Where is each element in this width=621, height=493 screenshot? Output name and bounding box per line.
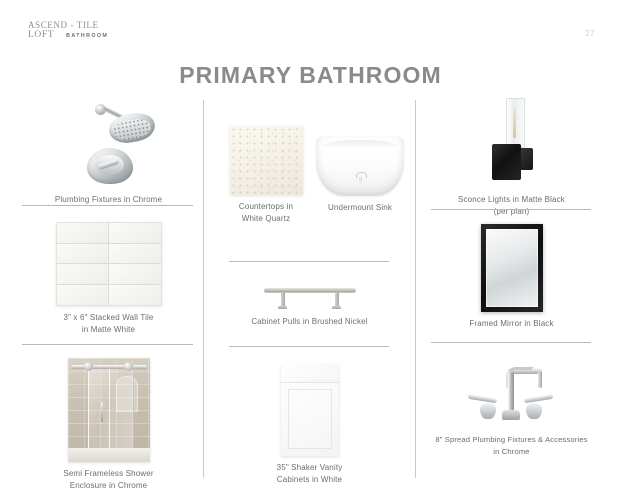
shower-head-and-valve-trim-icon bbox=[59, 96, 159, 188]
stacked-wall-tile-swatch-icon bbox=[56, 222, 162, 306]
section-rule bbox=[431, 209, 591, 210]
spec-caption: 8" Spread Plumbing Fixtures & Accessorie… bbox=[435, 434, 587, 458]
quartz-countertop-swatch-icon bbox=[230, 126, 303, 195]
shower-enclosure-icon bbox=[68, 358, 150, 462]
widespread-lavatory-faucet-icon bbox=[460, 354, 564, 428]
column-right: Sconce Lights in Matte Black (per plan) … bbox=[416, 96, 607, 480]
spec-item-widespread-faucet[interactable]: 8" Spread Plumbing Fixtures & Accessorie… bbox=[416, 354, 607, 458]
spec-item-quartz-countertop[interactable]: Countertops in White Quartz bbox=[218, 126, 314, 226]
spec-item-stacked-wall-tile[interactable]: 3" x 6" Stacked Wall Tile in Matte White bbox=[14, 222, 203, 337]
spec-caption: Sconce Lights in Matte Black (per plan) bbox=[458, 194, 565, 219]
column-left: Plumbing Fixtures in Chrome 3" x 6" Stac… bbox=[14, 96, 203, 480]
brand-line-2: LOFT bbox=[28, 30, 54, 41]
spec-item-shower-enclosure[interactable]: Semi Frameless Shower Enclosure in Chrom… bbox=[14, 358, 203, 493]
undermount-sink-icon bbox=[316, 136, 404, 196]
spec-caption: Undermount Sink bbox=[328, 202, 392, 214]
page-number: 27 bbox=[585, 29, 595, 38]
spec-caption: 3" x 6" Stacked Wall Tile in Matte White bbox=[63, 312, 153, 337]
framed-mirror-icon bbox=[481, 224, 543, 312]
spec-caption: Countertops in White Quartz bbox=[239, 201, 293, 226]
brand-room-tag: BATHROOM bbox=[66, 34, 108, 40]
spec-item-shaker-vanity-cabinets[interactable]: 35" Shaker Vanity Cabinets in White bbox=[204, 364, 415, 487]
spec-item-framed-mirror[interactable]: Framed Mirror in Black bbox=[416, 224, 607, 330]
spec-caption: Framed Mirror in Black bbox=[469, 318, 553, 330]
section-rule bbox=[22, 205, 193, 206]
section-rule bbox=[22, 344, 193, 345]
spec-caption: Semi Frameless Shower Enclosure in Chrom… bbox=[63, 468, 153, 493]
spec-item-sconce-lights[interactable]: Sconce Lights in Matte Black (per plan) bbox=[416, 96, 607, 219]
spec-caption: Cabinet Pulls in Brushed Nickel bbox=[251, 316, 367, 328]
section-rule bbox=[229, 261, 389, 262]
page-title: PRIMARY BATHROOM bbox=[0, 62, 621, 89]
spec-item-undermount-sink[interactable]: Undermount Sink bbox=[308, 136, 412, 214]
brand-logo: ASCEND - TILE LOFT BATHROOM bbox=[28, 20, 108, 41]
spec-item-cabinet-pulls[interactable]: Cabinet Pulls in Brushed Nickel bbox=[204, 284, 415, 328]
section-rule bbox=[431, 342, 591, 343]
spec-caption: 35" Shaker Vanity Cabinets in White bbox=[277, 462, 343, 487]
shaker-cabinet-door-icon bbox=[281, 364, 339, 456]
column-middle: Countertops in White Quartz Undermount S… bbox=[204, 96, 415, 480]
brand-line-1: ASCEND - TILE bbox=[28, 20, 108, 30]
section-rule bbox=[229, 346, 389, 347]
wall-sconce-light-icon bbox=[480, 96, 544, 188]
bar-cabinet-pull-icon bbox=[264, 284, 356, 310]
spec-item-plumbing-fixtures-chrome[interactable]: Plumbing Fixtures in Chrome bbox=[14, 96, 203, 206]
